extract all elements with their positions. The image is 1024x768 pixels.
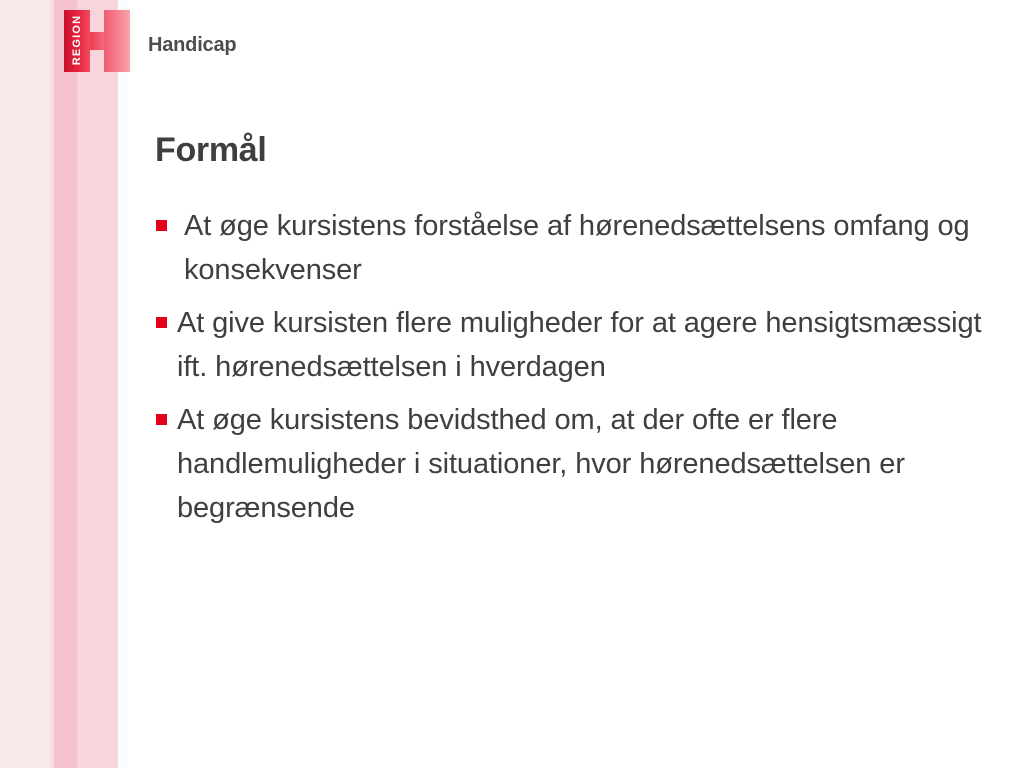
logo-wordmark: Handicap [148,34,236,57]
presentation-slide: REGION Handicap Formål At øge kursistens… [0,0,1024,768]
list-item-text: At øge kursistens forståelse af høreneds… [184,210,970,286]
region-h-logo-icon: REGION [64,10,130,72]
list-item: At give kursisten flere muligheder for a… [153,301,983,389]
list-item: At øge kursistens forståelse af høreneds… [153,204,983,292]
page-title: Formål [155,131,267,170]
square-bullet-icon [156,220,167,231]
list-item-text: At give kursisten flere muligheder for a… [177,307,981,383]
decorative-stripe-4 [77,0,118,768]
square-bullet-icon [156,317,167,328]
logo-h-crossbar [90,32,104,50]
logo-h-right-stem [104,10,130,72]
decorative-stripe-5 [118,0,128,768]
region-hovedstaden-logo: REGION Handicap [64,10,244,72]
decorative-stripe-1 [0,0,50,768]
list-item: At øge kursistens bevidsthed om, at der … [153,398,983,530]
list-item-text: At øge kursistens bevidsthed om, at der … [177,404,905,524]
logo-region-label: REGION [64,13,90,67]
bullet-list: At øge kursistens forståelse af høreneds… [153,204,983,539]
square-bullet-icon [156,414,167,425]
decorative-stripe-3 [54,0,77,768]
